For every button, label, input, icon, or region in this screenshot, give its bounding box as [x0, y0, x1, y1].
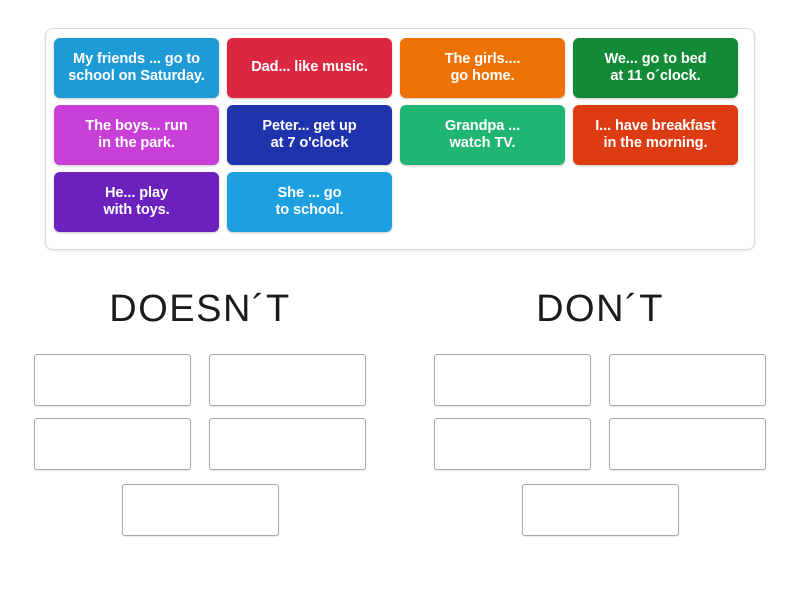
word-tile-tray: My friends ... go to school on Saturday.… [45, 28, 755, 250]
drop-zone[interactable] [522, 484, 679, 536]
word-tile[interactable]: Grandpa ... watch TV. [400, 105, 565, 165]
tile-text-line: He... play [103, 185, 169, 202]
drop-zone[interactable] [434, 418, 591, 470]
column-doesnt: DOESN´T [0, 280, 400, 536]
tile-text-line: at 11 o´clock. [604, 68, 706, 85]
tile-text-line: at 7 o'clock [262, 135, 356, 152]
tile-text-line: The boys... run [85, 118, 187, 135]
drop-zone[interactable] [34, 354, 191, 406]
word-tile[interactable]: She ... go to school. [227, 172, 392, 232]
tile-text-line: We... go to bed [604, 51, 706, 68]
drop-zone[interactable] [209, 354, 366, 406]
drop-zone-row [410, 482, 790, 536]
word-tile[interactable]: The girls.... go home. [400, 38, 565, 98]
word-tile[interactable]: The boys... run in the park. [54, 105, 219, 165]
word-tile[interactable]: Peter... get up at 7 o'clock [227, 105, 392, 165]
tile-text-line: to school. [276, 202, 344, 219]
drop-zone[interactable] [609, 354, 766, 406]
tile-row-1: My friends ... go to school on Saturday.… [54, 38, 746, 98]
tile-text-line: in the park. [85, 135, 187, 152]
tile-text-line: watch TV. [445, 135, 520, 152]
tile-text-line: She ... go [276, 185, 344, 202]
column-title: DOESN´T [109, 280, 291, 328]
tile-text-line: The girls.... [445, 51, 521, 68]
drop-zone[interactable] [434, 354, 591, 406]
tile-text-line: school on Saturday. [68, 68, 205, 85]
word-tile[interactable]: I... have breakfast in the morning. [573, 105, 738, 165]
drop-zone-row [410, 418, 790, 470]
word-tile[interactable]: He... play with toys. [54, 172, 219, 232]
drop-zone-grid [10, 354, 390, 536]
tile-text-line: go home. [445, 68, 521, 85]
tile-text-line: I... have breakfast [595, 118, 716, 135]
drop-zone[interactable] [122, 484, 279, 536]
tile-text-line: with toys. [103, 202, 169, 219]
sorting-columns: DOESN´T DON´T [0, 280, 800, 536]
word-tile[interactable]: Dad... like music. [227, 38, 392, 98]
column-title: DON´T [536, 280, 664, 328]
drop-zone-row [10, 418, 390, 470]
drop-zone[interactable] [34, 418, 191, 470]
tile-text-line: Grandpa ... [445, 118, 520, 135]
word-tile[interactable]: We... go to bed at 11 o´clock. [573, 38, 738, 98]
drop-zone-row [10, 354, 390, 406]
tile-text-line: Peter... get up [262, 118, 356, 135]
word-tile[interactable]: My friends ... go to school on Saturday. [54, 38, 219, 98]
tile-text-line: in the morning. [595, 135, 716, 152]
drop-zone-row [10, 482, 390, 536]
drop-zone-grid [410, 354, 790, 536]
column-dont: DON´T [400, 280, 800, 536]
tile-row-2: The boys... run in the park. Peter... ge… [54, 105, 746, 165]
tile-row-3: He... play with toys. She ... go to scho… [54, 172, 746, 232]
tile-text-line: Dad... like music. [251, 59, 368, 76]
tile-rows: My friends ... go to school on Saturday.… [54, 38, 746, 232]
drop-zone[interactable] [609, 418, 766, 470]
drop-zone-row [410, 354, 790, 406]
group-sort-activity: My friends ... go to school on Saturday.… [0, 0, 800, 600]
drop-zone[interactable] [209, 418, 366, 470]
tile-text-line: My friends ... go to [68, 51, 205, 68]
